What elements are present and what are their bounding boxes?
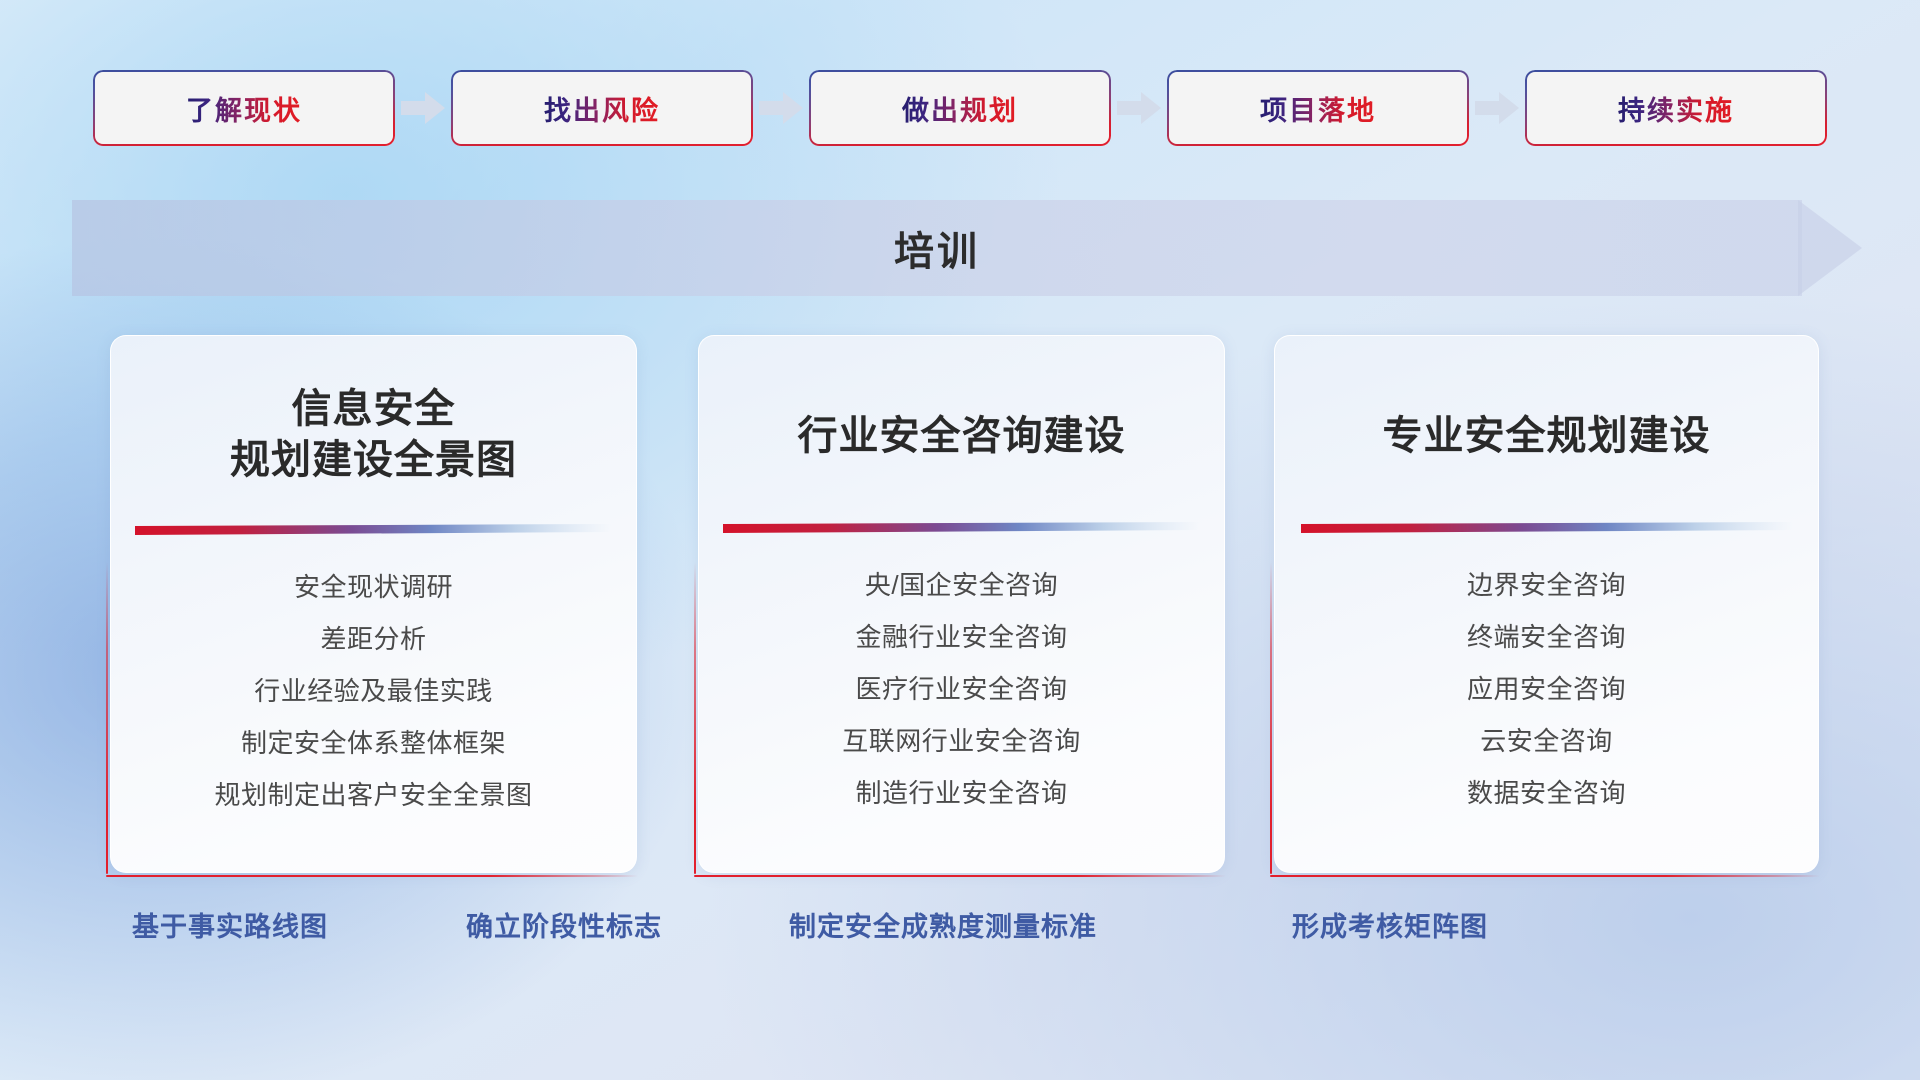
list-item: 医疗行业安全咨询 bbox=[699, 676, 1224, 702]
right-arrow-icon bbox=[1469, 68, 1525, 148]
right-arrow-icon bbox=[1111, 68, 1167, 148]
step-box-0[interactable]: 了解现状 bbox=[93, 70, 395, 146]
step-item-4[interactable]: 持续实施 bbox=[1525, 70, 1827, 146]
step-box-1[interactable]: 找出风险 bbox=[451, 70, 753, 146]
card-divider-0 bbox=[111, 524, 636, 538]
step-label-2: 做出规划 bbox=[902, 89, 1018, 128]
card-industry-security-consulting[interactable]: 行业安全咨询建设 央/国企安全咨询 金融行业安全咨询 医疗行业安全咨询 互联网行… bbox=[698, 335, 1225, 873]
list-item: 制造行业安全咨询 bbox=[699, 780, 1224, 806]
list-item: 终端安全咨询 bbox=[1275, 624, 1818, 650]
list-item: 互联网行业安全咨询 bbox=[699, 728, 1224, 754]
card-title-2: 专业安全规划建设 bbox=[1275, 336, 1818, 462]
list-item: 安全现状调研 bbox=[111, 574, 636, 600]
card-list-2: 边界安全咨询 终端安全咨询 应用安全咨询 云安全咨询 数据安全咨询 bbox=[1275, 572, 1818, 806]
process-step-flow: 了解现状 找出风险 做出规划 项目落地 持续实施 bbox=[0, 68, 1920, 148]
list-item: 行业经验及最佳实践 bbox=[111, 678, 636, 704]
step-box-3[interactable]: 项目落地 bbox=[1167, 70, 1469, 146]
card-accent-line bbox=[106, 875, 638, 877]
list-item: 应用安全咨询 bbox=[1275, 676, 1818, 702]
card-divider-1 bbox=[699, 522, 1224, 536]
banner-arrow-tip-icon bbox=[1798, 190, 1862, 306]
step-item-2[interactable]: 做出规划 bbox=[809, 70, 1111, 146]
step-label-1: 找出风险 bbox=[544, 89, 660, 128]
footer-label-3: 形成考核矩阵图 bbox=[1292, 905, 1488, 944]
footer-label-row: 基于事实路线图 确立阶段性标志 制定安全成熟度测量标准 形成考核矩阵图 bbox=[0, 905, 1920, 965]
list-item: 规划制定出客户安全全景图 bbox=[111, 782, 636, 808]
footer-label-0: 基于事实路线图 bbox=[132, 905, 328, 944]
card-title-line: 行业安全咨询建设 bbox=[699, 411, 1224, 462]
right-arrow-icon bbox=[753, 68, 809, 148]
footer-label-1: 确立阶段性标志 bbox=[466, 905, 662, 944]
card-info-security-blueprint[interactable]: 信息安全 规划建设全景图 安全现状调研 差距分析 行业经验及最佳实践 制定安全体… bbox=[110, 335, 637, 873]
right-arrow-icon bbox=[395, 68, 451, 148]
card-title-line: 规划建设全景图 bbox=[111, 435, 636, 486]
step-box-2[interactable]: 做出规划 bbox=[809, 70, 1111, 146]
banner-title: 培训 bbox=[72, 200, 1802, 296]
card-title-line: 专业安全规划建设 bbox=[1275, 411, 1818, 462]
training-banner: 培训 bbox=[72, 200, 1862, 296]
card-title-line: 信息安全 bbox=[111, 384, 636, 435]
list-item: 差距分析 bbox=[111, 626, 636, 652]
step-label-4: 持续实施 bbox=[1618, 89, 1734, 128]
list-item: 金融行业安全咨询 bbox=[699, 624, 1224, 650]
list-item: 云安全咨询 bbox=[1275, 728, 1818, 754]
card-divider-2 bbox=[1275, 522, 1818, 536]
list-item: 央/国企安全咨询 bbox=[699, 572, 1224, 598]
list-item: 制定安全体系整体框架 bbox=[111, 730, 636, 756]
list-item: 边界安全咨询 bbox=[1275, 572, 1818, 598]
card-accent-line bbox=[694, 875, 1226, 877]
card-title-0: 信息安全 规划建设全景图 bbox=[111, 336, 636, 486]
step-item-0[interactable]: 了解现状 bbox=[93, 70, 395, 146]
card-list-0: 安全现状调研 差距分析 行业经验及最佳实践 制定安全体系整体框架 规划制定出客户… bbox=[111, 574, 636, 808]
card-title-1: 行业安全咨询建设 bbox=[699, 336, 1224, 462]
card-accent-line bbox=[1270, 875, 1820, 877]
step-item-1[interactable]: 找出风险 bbox=[451, 70, 753, 146]
step-box-4[interactable]: 持续实施 bbox=[1525, 70, 1827, 146]
capability-cards: 信息安全 规划建设全景图 安全现状调研 差距分析 行业经验及最佳实践 制定安全体… bbox=[0, 335, 1920, 880]
step-item-3[interactable]: 项目落地 bbox=[1167, 70, 1469, 146]
step-label-0: 了解现状 bbox=[186, 89, 302, 128]
card-list-1: 央/国企安全咨询 金融行业安全咨询 医疗行业安全咨询 互联网行业安全咨询 制造行… bbox=[699, 572, 1224, 806]
list-item: 数据安全咨询 bbox=[1275, 780, 1818, 806]
card-professional-security-planning[interactable]: 专业安全规划建设 边界安全咨询 终端安全咨询 应用安全咨询 云安全咨询 数据安全… bbox=[1274, 335, 1819, 873]
footer-label-2: 制定安全成熟度测量标准 bbox=[789, 905, 1097, 944]
step-label-3: 项目落地 bbox=[1260, 89, 1376, 128]
